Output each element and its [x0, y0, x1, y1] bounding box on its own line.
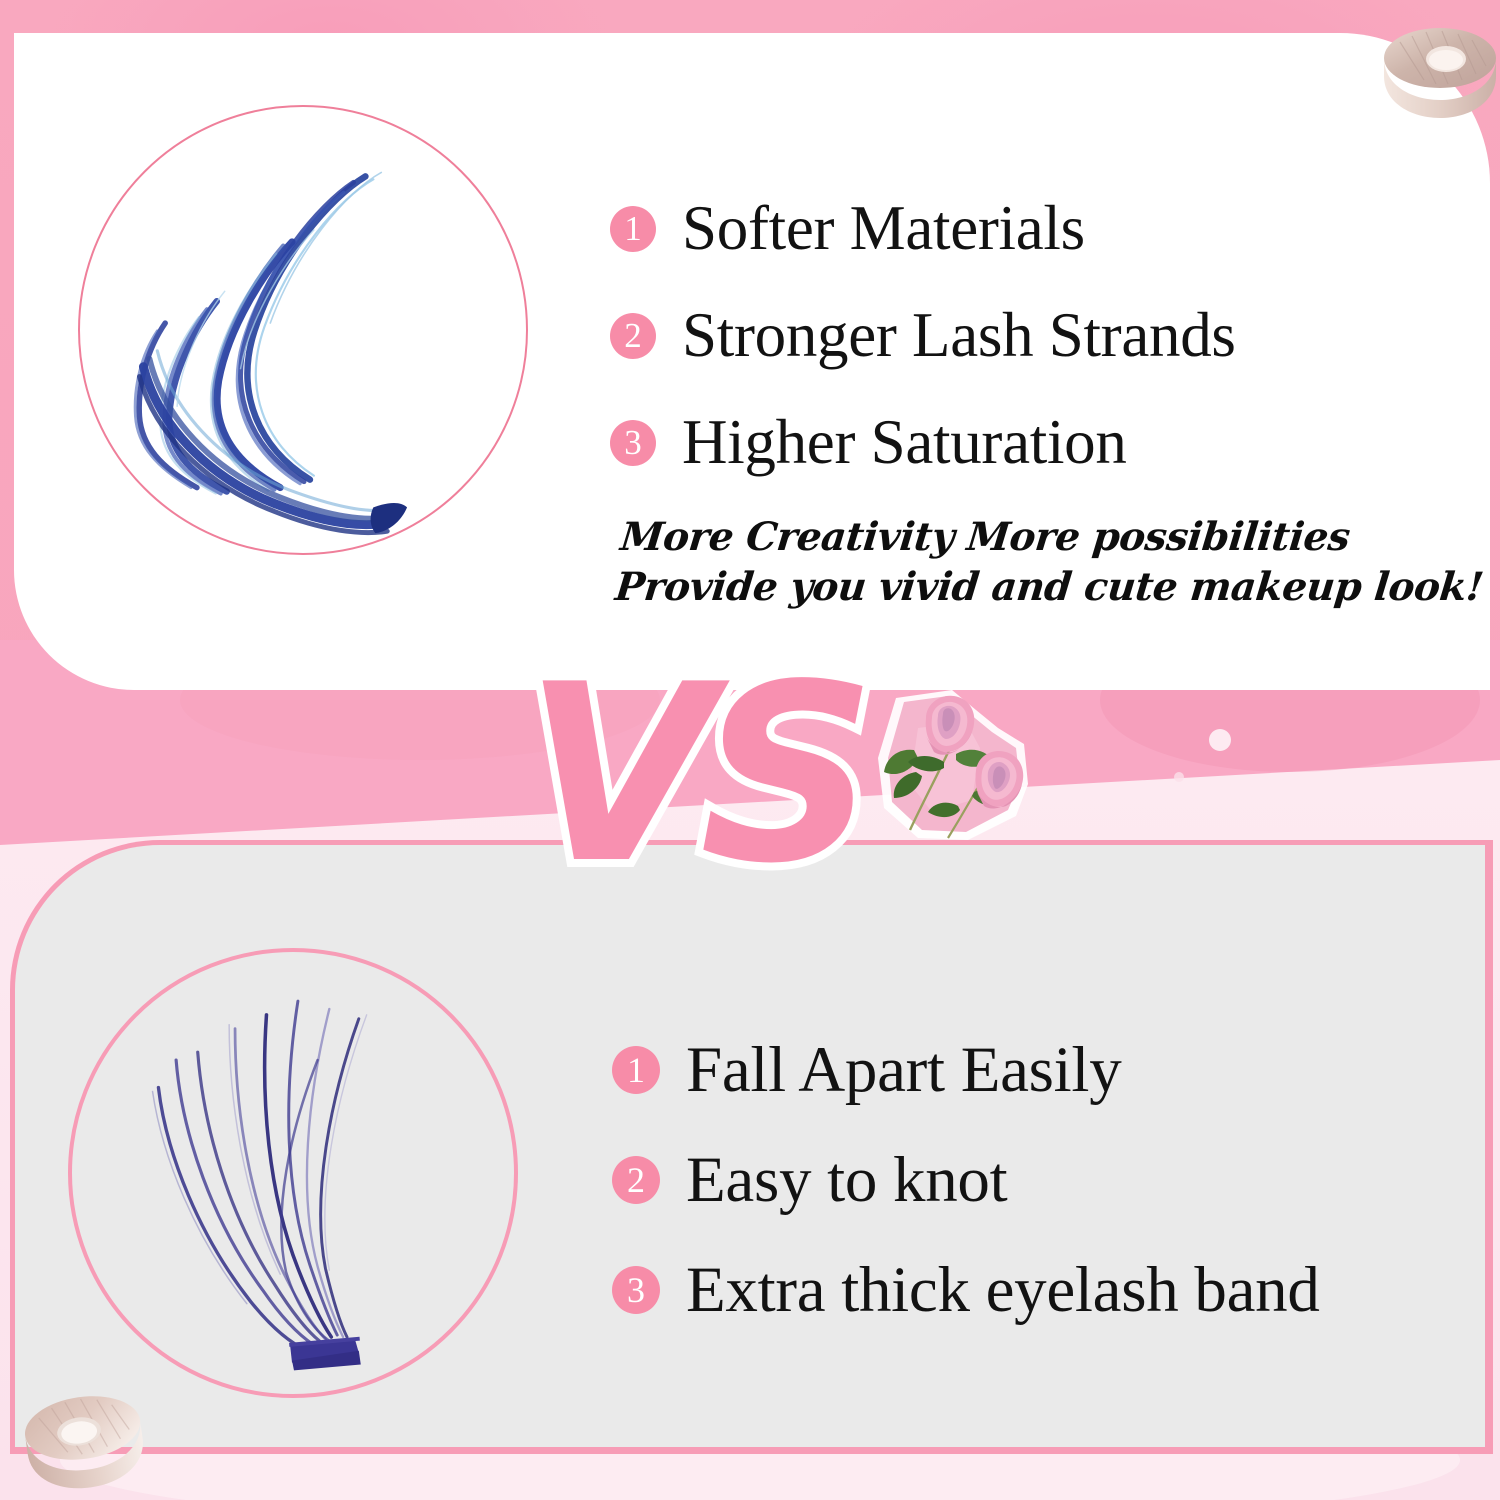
- list-item: 3 Higher Saturation: [610, 389, 1490, 496]
- badge-number-2: 2: [610, 313, 656, 359]
- our-product-image-frame: [78, 105, 528, 555]
- feature-label-3: Extra thick eyelash band: [686, 1258, 1320, 1323]
- feature-label-2: Easy to knot: [686, 1148, 1007, 1213]
- sparse-navy-lash-cluster-icon: [72, 952, 514, 1394]
- badge-number-3: 3: [612, 1266, 660, 1314]
- feature-label-1: Fall Apart Easily: [686, 1038, 1121, 1103]
- our-product-feature-list: 1 Softer Materials 2 Stronger Lash Stran…: [610, 175, 1490, 496]
- feature-label-3: Higher Saturation: [682, 411, 1127, 474]
- list-item: 3 Extra thick eyelash band: [612, 1235, 1492, 1345]
- feature-label-1: Softer Materials: [682, 197, 1085, 260]
- badge-number-1: 1: [610, 206, 656, 252]
- tagline: More Creativity More possibilities Provi…: [613, 513, 1493, 613]
- tagline-line-2: Provide you vivid and cute makeup look!: [613, 563, 1488, 613]
- badge-number-3: 3: [610, 420, 656, 466]
- feature-label-2: Stronger Lash Strands: [682, 304, 1236, 367]
- pink-rose-bouquet-icon: [848, 688, 1048, 848]
- tagline-line-1: More Creativity More possibilities: [618, 513, 1493, 563]
- blue-volume-lash-cluster-icon: [80, 107, 526, 553]
- wooden-ring-disc-top-right-icon: [1378, 14, 1500, 122]
- other-product-feature-list: 1 Fall Apart Easily 2 Easy to knot 3 Ext…: [612, 1015, 1492, 1345]
- wooden-ring-disc-bottom-left-icon: [18, 1382, 148, 1494]
- vs-divider-label: VS: [524, 652, 862, 897]
- other-product-image-frame: [68, 948, 518, 1398]
- list-item: 1 Softer Materials: [610, 175, 1490, 282]
- badge-number-2: 2: [612, 1156, 660, 1204]
- badge-number-1: 1: [612, 1046, 660, 1094]
- list-item: 2 Stronger Lash Strands: [610, 282, 1490, 389]
- list-item: 2 Easy to knot: [612, 1125, 1492, 1235]
- list-item: 1 Fall Apart Easily: [612, 1015, 1492, 1125]
